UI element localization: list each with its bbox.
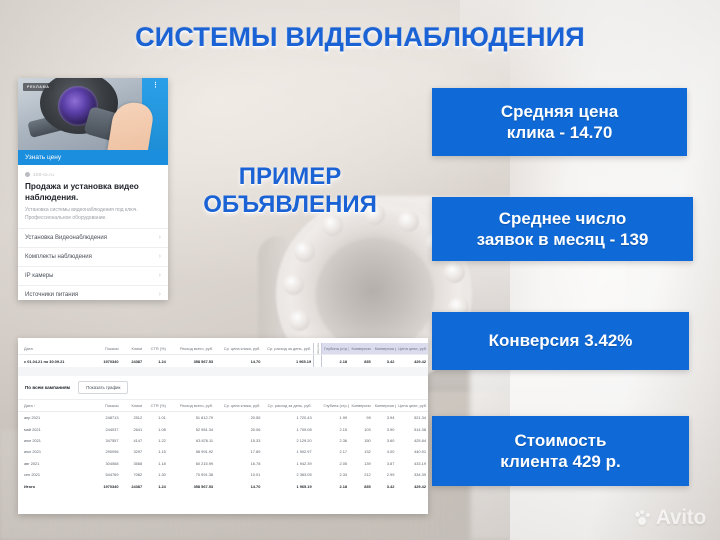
- metrika-group-label: Метрика: [314, 343, 322, 355]
- cell-avg-daily-spend: 1 709.08: [262, 424, 313, 435]
- ad-url-row: 100-to.ru: [25, 172, 161, 177]
- table-row: апр 202124871325121.0151 812.7920.551 72…: [18, 412, 428, 424]
- table-header-row: Дата ↑ Показы Клики CTR (%) Расход всего…: [18, 400, 428, 412]
- table-row: авг 202130406835681.1860 215.9916.781 94…: [18, 458, 428, 469]
- cell-period: с 01.04.21 по 30.09.21: [18, 355, 93, 367]
- cell-cost-per-goal: 514.38: [396, 424, 428, 435]
- cell-cost-per-goal: 425.84: [396, 435, 428, 446]
- cell-total-spend: 358 567.53: [168, 480, 215, 491]
- page-title: СИСТЕМЫ ВИДЕОНАБЛЮДЕНИЯ: [0, 22, 720, 53]
- col-header[interactable]: CTR (%): [144, 400, 168, 412]
- cell-conversions: 99: [349, 412, 373, 424]
- col-header[interactable]: Ср. цена клика, руб.: [215, 343, 262, 355]
- panel-divider: [18, 367, 428, 376]
- cell-depth: 2.17: [322, 446, 350, 457]
- spacer: [314, 458, 322, 469]
- list-item[interactable]: Комплекты наблюдения ›: [18, 247, 168, 266]
- table-header-row: Дата Показы Клики CTR (%) Расход всего, …: [18, 343, 428, 355]
- table-row: июл 202129009632971.1558 991.9217.891 90…: [18, 446, 428, 457]
- cell-ctr: 1.24: [144, 355, 168, 367]
- cell-avg-cpc: 16.78: [215, 458, 262, 469]
- cell-conversion-rate: 3.60: [373, 435, 397, 446]
- ad-sitelink-label: IP камеры: [25, 273, 53, 279]
- col-header[interactable]: Ср. расход за день, руб.: [262, 400, 313, 412]
- chevron-right-icon: ›: [159, 234, 161, 241]
- cell-cost-per-goal: 440.91: [396, 446, 428, 457]
- panel-scope-label: По всем кампаниям: [25, 385, 70, 390]
- cell-avg-cpc: 20.55: [215, 412, 262, 424]
- cell-clicks: 24387: [121, 355, 145, 367]
- col-header[interactable]: Ср. цена клика, руб.: [215, 400, 262, 412]
- col-header[interactable]: Ср. расход за день, руб.: [262, 343, 313, 355]
- col-header[interactable]: Глубина (стр.): [322, 343, 350, 355]
- statistics-panel: Дата Показы Клики CTR (%) Расход всего, …: [18, 338, 428, 514]
- cell-date: май 2021: [18, 424, 93, 435]
- col-header[interactable]: Клики: [121, 400, 145, 412]
- cell-date: Итого: [18, 480, 93, 491]
- cell-clicks: 3568: [121, 458, 145, 469]
- cell-impressions: 248713: [93, 412, 121, 424]
- cell-clicks: 4147: [121, 435, 145, 446]
- col-header[interactable]: Показы: [93, 343, 121, 355]
- cell-avg-cpc: 14.70: [215, 355, 262, 367]
- center-caption: ПРИМЕР ОБЪЯВЛЕНИЯ: [175, 163, 405, 220]
- col-header[interactable]: Дата: [18, 343, 93, 355]
- list-item[interactable]: IP камеры ›: [18, 266, 168, 285]
- cell-clicks: 7082: [121, 469, 145, 480]
- cell-depth: 2.36: [322, 435, 350, 446]
- cell-total-spend: 63 876.11: [168, 435, 215, 446]
- cell-conversions: 150: [349, 435, 373, 446]
- cell-cost-per-goal: 521.34: [396, 412, 428, 424]
- cell-conversion-rate: 3.42: [373, 480, 397, 491]
- cell-conversion-rate: 2.99: [373, 469, 397, 480]
- cell-clicks: 24387: [121, 480, 145, 491]
- kpi-line1: Среднее число: [499, 209, 627, 228]
- list-item[interactable]: Источники питания ›: [18, 285, 168, 300]
- spacer: [314, 469, 322, 480]
- cell-ctr: 1.01: [144, 412, 168, 424]
- cell-avg-daily-spend: 1 902.97: [262, 446, 313, 457]
- cell-ctr: 1.30: [144, 469, 168, 480]
- spacer: [314, 412, 322, 424]
- cell-clicks: 2512: [121, 412, 145, 424]
- cell-avg-daily-spend: 1 965.19: [262, 355, 313, 367]
- kpi-line1: Средняя цена: [501, 102, 618, 121]
- cell-total-spend: 58 991.92: [168, 446, 215, 457]
- col-header[interactable]: Конверсии: [349, 400, 373, 412]
- cell-depth: 2.33: [322, 469, 350, 480]
- kpi-card-conversion: Конверсия 3.42%: [432, 312, 689, 370]
- kpi-card-avg-leads: Среднее число заявок в месяц - 139: [432, 197, 693, 261]
- chevron-right-icon: ›: [159, 291, 161, 298]
- cell-ctr: 1.22: [144, 435, 168, 446]
- summary-table: Дата Показы Клики CTR (%) Расход всего, …: [18, 343, 428, 367]
- center-caption-line1: ПРИМЕР: [175, 163, 405, 191]
- cell-depth: 1.99: [322, 412, 350, 424]
- detail-table: Дата ↑ Показы Клики CTR (%) Расход всего…: [18, 400, 428, 492]
- kpi-line2: заявок в месяц - 139: [477, 230, 649, 249]
- cell-clicks: 2641: [121, 424, 145, 435]
- chevron-right-icon: ›: [159, 272, 161, 279]
- cell-avg-cpc: 20.06: [215, 424, 262, 435]
- favicon-icon: [25, 172, 30, 177]
- cell-avg-daily-spend: 2 129.20: [262, 435, 313, 446]
- cell-total-spend: 51 812.79: [168, 412, 215, 424]
- ad-hero-image: РЕКЛАМА ⋮: [18, 78, 168, 150]
- cell-depth: 2.18: [322, 355, 350, 367]
- cell-impressions: 1970340: [93, 355, 121, 367]
- ad-title[interactable]: Продажа и установка видео наблюдения.: [25, 182, 161, 203]
- metrika-divider: [314, 355, 322, 367]
- cell-conversions: 132: [349, 446, 373, 457]
- kpi-line1: Стоимость: [515, 431, 607, 450]
- center-caption-line2: ОБЪЯВЛЕНИЯ: [175, 191, 405, 219]
- cell-impressions: 244037: [93, 424, 121, 435]
- cell-conversions: 139: [349, 458, 373, 469]
- cell-ctr: 1.18: [144, 458, 168, 469]
- show-chart-button[interactable]: Показать график: [78, 381, 128, 394]
- cell-date: авг 2021: [18, 458, 93, 469]
- col-header[interactable]: Глубина (стр.): [322, 400, 350, 412]
- cell-conversions: 835: [349, 355, 373, 367]
- spacer: [314, 435, 322, 446]
- cell-conversions: 835: [349, 480, 373, 491]
- cell-avg-daily-spend: 1 965.19: [262, 480, 313, 491]
- cell-date: июн 2021: [18, 435, 93, 446]
- cell-impressions: 347557: [93, 435, 121, 446]
- kpi-card-client-cost: Стоимость клиента 429 р.: [432, 416, 689, 486]
- cell-avg-daily-spend: 1 720.43: [262, 412, 313, 424]
- ad-sitelink-label: Комплекты наблюдения: [25, 254, 92, 260]
- ad-description: Установка системы видеонаблюдения под кл…: [25, 207, 161, 222]
- ad-body: 100-to.ru Продажа и установка видео набл…: [18, 165, 168, 222]
- spacer: [314, 400, 322, 412]
- col-header[interactable]: Расход всего, руб.: [168, 343, 215, 355]
- panel-toolbar: По всем кампаниям Показать график: [18, 376, 428, 400]
- cell-avg-cpc: 10.01: [215, 469, 262, 480]
- col-header[interactable]: Цена цели, руб.: [396, 343, 428, 355]
- cell-conversion-rate: 4.00: [373, 446, 397, 457]
- cell-depth: 2.05: [322, 458, 350, 469]
- cell-avg-daily-spend: 1 942.39: [262, 458, 313, 469]
- ad-cta-button[interactable]: Узнать цену: [18, 150, 168, 165]
- col-header[interactable]: Показы: [93, 400, 121, 412]
- kebab-menu-icon[interactable]: ⋮: [152, 83, 159, 89]
- kpi-card-avg-click-price: Средняя цена клика - 14.70: [432, 88, 687, 156]
- list-item[interactable]: Установка Видеонаблюдения ›: [18, 228, 168, 247]
- col-header[interactable]: Расход всего, руб.: [168, 400, 215, 412]
- cell-cost-per-goal: 429.42: [396, 355, 428, 367]
- cell-total-spend: 70 591.38: [168, 469, 215, 480]
- cell-date: апр 2021: [18, 412, 93, 424]
- spacer: [314, 480, 322, 491]
- cell-cost-per-goal: 433.19: [396, 458, 428, 469]
- cell-conversion-rate: 3.87: [373, 458, 397, 469]
- table-row: май 202124403726411.0852 981.3420.061 70…: [18, 424, 428, 435]
- cell-avg-daily-spend: 2 383.05: [262, 469, 313, 480]
- ad-sitelink-label: Установка Видеонаблюдения: [25, 235, 107, 241]
- cell-impressions: 544769: [93, 469, 121, 480]
- watermark-label: Avito: [656, 506, 706, 530]
- cell-depth: 2.15: [322, 424, 350, 435]
- col-header[interactable]: Клики: [121, 343, 145, 355]
- ad-sitelink-list: Установка Видеонаблюдения › Комплекты на…: [18, 228, 168, 300]
- col-header[interactable]: Цена цели, руб.: [396, 400, 428, 412]
- cell-depth: 2.18: [322, 480, 350, 491]
- cell-conversion-rate: 3.90: [373, 424, 397, 435]
- kpi-line2: клика - 14.70: [507, 123, 613, 142]
- col-header[interactable]: Конверсия (%): [373, 343, 397, 355]
- cell-date: июл 2021: [18, 446, 93, 457]
- spacer: [314, 446, 322, 457]
- cell-impressions: 304068: [93, 458, 121, 469]
- cell-cost-per-goal: 429.42: [396, 480, 428, 491]
- ad-sponsored-badge: РЕКЛАМА: [23, 83, 54, 91]
- kpi-line1: Конверсия 3.42%: [489, 331, 633, 350]
- cell-conversion-rate: 3.42: [373, 355, 397, 367]
- avito-watermark: Avito: [635, 506, 706, 530]
- ad-cta-label: Узнать цену: [25, 154, 61, 161]
- cell-ctr: 1.24: [144, 480, 168, 491]
- cell-impressions: 1970340: [93, 480, 121, 491]
- table-row: с 01.04.21 по 30.09.21 1970340 24387 1.2…: [18, 355, 428, 367]
- col-header[interactable]: Дата ↑: [18, 400, 93, 412]
- cell-avg-cpc: 15.33: [215, 435, 262, 446]
- table-row: сен 202154476970821.3070 591.3810.012 38…: [18, 469, 428, 480]
- cell-impressions: 290096: [93, 446, 121, 457]
- cell-total-spend: 60 215.99: [168, 458, 215, 469]
- cell-conversion-rate: 3.94: [373, 412, 397, 424]
- cell-conversions: 103: [349, 424, 373, 435]
- ad-preview-card: РЕКЛАМА ⋮ Узнать цену 100-to.ru Продажа …: [18, 78, 168, 300]
- col-header[interactable]: Конверсии: [349, 343, 373, 355]
- table-row: Итого1970340243871.24358 567.5314.701 96…: [18, 480, 428, 491]
- kpi-line2: клиента 429 р.: [500, 452, 620, 471]
- cell-avg-cpc: 17.89: [215, 446, 262, 457]
- ad-url: 100-to.ru: [33, 172, 54, 177]
- chevron-right-icon: ›: [159, 253, 161, 260]
- avito-logo-icon: [635, 510, 652, 527]
- table-row: июн 202134755741471.2263 876.1115.332 12…: [18, 435, 428, 446]
- cell-clicks: 3297: [121, 446, 145, 457]
- col-header[interactable]: CTR (%): [144, 343, 168, 355]
- cell-avg-cpc: 14.70: [215, 480, 262, 491]
- ad-sitelink-label: Источники питания: [25, 292, 78, 298]
- col-header[interactable]: Конверсия (%): [373, 400, 397, 412]
- spacer: [314, 424, 322, 435]
- cell-total-spend: 358 567.53: [168, 355, 215, 367]
- cell-ctr: 1.08: [144, 424, 168, 435]
- cell-date: сен 2021: [18, 469, 93, 480]
- cell-ctr: 1.15: [144, 446, 168, 457]
- cell-total-spend: 52 981.34: [168, 424, 215, 435]
- cell-conversions: 212: [349, 469, 373, 480]
- cell-cost-per-goal: 334.39: [396, 469, 428, 480]
